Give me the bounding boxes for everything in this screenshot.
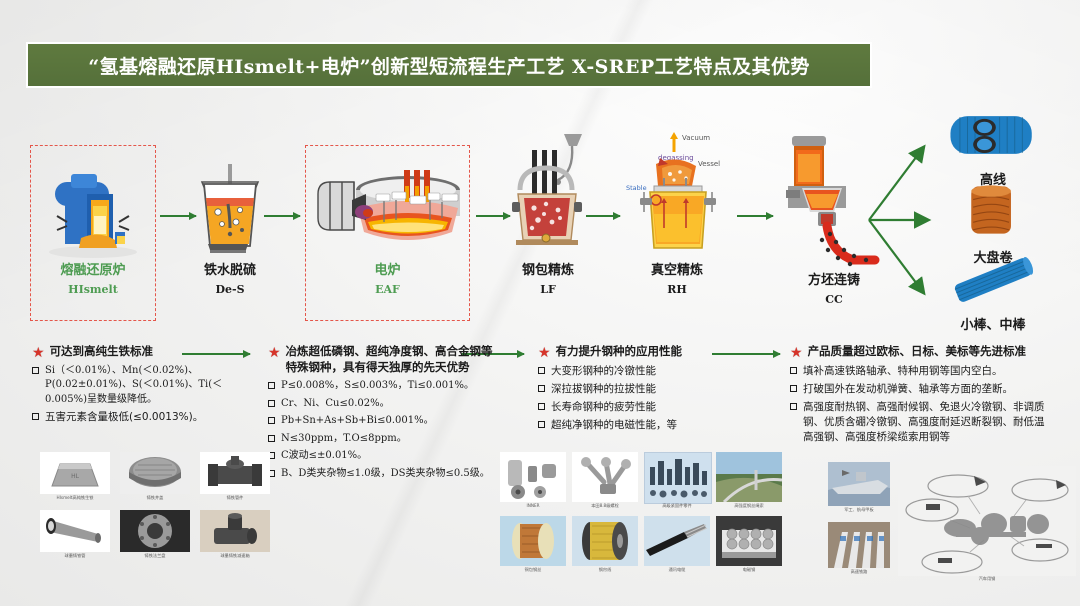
photo-communication-cable [644, 516, 710, 566]
bullet-text: P≤0.008%，S≤0.003%，Ti≤0.001%。 [281, 379, 474, 394]
bullet-square-icon [538, 385, 545, 392]
wire-rod-coil-icon [938, 110, 1048, 165]
stage-eaf: 电炉 EAF [310, 160, 465, 296]
bullet-square-icon [790, 385, 797, 392]
svg-text:HL: HL [71, 473, 80, 480]
page-title: “氢基熔融还原HIsmelt+电炉”创新型短流程生产工艺 X-SREP工艺特点及… [88, 52, 810, 79]
svg-text:Stable: Stable [626, 184, 647, 192]
stage-label-en: HIsmelt [34, 283, 152, 296]
section-title: 冶炼超低磷钢、超纯净度钢、高合金钢等特殊钢种，具有得天独厚的先天优势 [286, 344, 500, 375]
smelting-reduction-furnace-icon [41, 160, 145, 260]
section-bullet-list: Si（＜0.01%）、Mn(＜0.02%)、P(0.02±0.01%)、S(＜0… [32, 364, 242, 426]
photo-caption: 钢帘线 [572, 567, 638, 573]
list-item: Pb+Sn+As+Sb+Bi≤0.001%。 [268, 414, 500, 429]
bullet-text: 深拉拔钢种的拉拔性能 [551, 382, 656, 397]
bullet-text: Pb+Sn+As+Sb+Bi≤0.001%。 [281, 414, 434, 429]
list-item: 五害元素含量极低(≤0.0013%)。 [32, 410, 242, 425]
photo-caption: 本田8.8级螺栓 [572, 503, 638, 509]
bullet-square-icon [538, 403, 545, 410]
list-item: 高强度耐热钢、高强耐候钢、免退火冷镦钢、非调质钢、优质含硼冷镦钢、高强度耐延迟断… [790, 400, 1052, 446]
bullet-text: 打破国外在发动机弹簧、轴承等方面的垄断。 [803, 382, 1013, 397]
list-item: P≤0.008%，S≤0.003%，Ti≤0.001%。 [268, 379, 500, 394]
bullet-text: 长寿命钢种的疲劳性能 [551, 400, 656, 415]
list-item: 长寿命钢种的疲劳性能 [538, 400, 738, 415]
photo-cast-iron-flange [120, 510, 190, 552]
stage-label-en: EAF [310, 283, 465, 296]
photo-caption: HIsmelt高纯铁生铁 [40, 495, 110, 501]
stage-label-cn: 电炉 [310, 264, 465, 278]
stage-rh: Vacuum degassing Vessel Stable [622, 128, 732, 296]
gallery-left: HL HIsmelt高纯铁生铁 铸铁井盖 铸铁管件 [40, 452, 270, 586]
photo-high-strength-bolts [572, 452, 638, 502]
photo-caption: 铸铁法兰盘 [120, 553, 190, 559]
photo-caption: 高强度钢丝绳索 [716, 503, 782, 509]
bullet-text: C波动≤±0.01%。 [281, 449, 367, 464]
section-application-performance: ★ 有力提升钢种的应用性能 大变形钢种的冷镦性能 深拉拔钢种的拉拔性能 长寿命钢… [538, 344, 738, 436]
list-item: Cr、Ni、Cu≤0.02%。 [268, 397, 500, 412]
rh-vacuum-degasser-icon: Vacuum degassing Vessel Stable [624, 128, 730, 260]
bullet-square-icon [268, 382, 275, 389]
stage-label-cn: 铁水脱硫 [180, 264, 280, 278]
star-icon: ★ [538, 345, 551, 359]
list-item: 超纯净钢种的电磁性能，等 [538, 418, 738, 433]
bullet-text: 超纯净钢种的电磁性能，等 [551, 418, 677, 433]
product-wire-rod: 高线 [938, 110, 1048, 188]
bullet-text: 大变形钢种的冷镦性能 [551, 364, 656, 379]
bullet-square-icon [32, 413, 39, 420]
stage-lf: 钢包精炼 LF [500, 128, 596, 296]
photo-caption: 铸铁井盖 [120, 495, 190, 501]
stage-label-en: De-S [180, 283, 280, 296]
photo-cast-iron-valve [200, 452, 270, 494]
section-title: 有力提升钢种的应用性能 [556, 344, 683, 360]
photo-aircraft-carrier [828, 462, 890, 506]
flow-arrow-5 [737, 215, 773, 217]
svg-text:Vessel: Vessel [698, 160, 720, 168]
photo-electromagnetic-steel [716, 516, 782, 566]
photo-precision-parts [500, 452, 566, 502]
bullet-square-icon [790, 403, 797, 410]
small-medium-bar-bundle-icon [938, 255, 1048, 310]
bullet-text: 高强度耐热钢、高强耐候钢、免退火冷镦钢、非调质钢、优质含硼冷镦钢、高强度耐延迟断… [803, 400, 1052, 446]
section-special-steel: ★ 冶炼超低磷钢、超纯净度钢、高合金钢等特殊钢种，具有得天独厚的先天优势 P≤0… [268, 344, 500, 484]
star-icon: ★ [32, 345, 45, 359]
photo-caption: 通讯电缆 [644, 567, 710, 573]
photo-caption: 军工、航母甲板 [828, 507, 890, 513]
photo-copper-clad-wire [500, 516, 566, 566]
stage-desulfurization: 铁水脱硫 De-S [180, 160, 280, 296]
photo-pig-iron-ingot: HL [40, 452, 110, 494]
bullet-text: Cr、Ni、Cu≤0.02%。 [281, 397, 390, 412]
photo-caption: 铸铁管件 [200, 495, 270, 501]
list-item: C波动≤±0.01%。 [268, 449, 500, 464]
photo-ductile-iron-pipe [40, 510, 110, 552]
gallery-right: 军工、航母甲板 高速铁路 [828, 462, 1080, 590]
section-title: 可达到高纯生铁标准 [50, 344, 154, 360]
photo-bridge-cable [716, 452, 782, 502]
large-coil-icon [938, 182, 1048, 243]
bullet-square-icon [790, 367, 797, 374]
stage-label-cn: 钢包精炼 [500, 264, 596, 278]
bullet-square-icon [538, 421, 545, 428]
product-label: 小棒、中棒 [938, 314, 1048, 333]
section-bullet-list: 填补高速铁路轴承、特种用钢等国内空白。 打破国外在发动机弹簧、轴承等方面的垄断。… [790, 364, 1052, 446]
photo-ductile-iron-gearbox [200, 510, 270, 552]
section-bullet-list: P≤0.008%，S≤0.003%，Ti≤0.001%。 Cr、Ni、Cu≤0.… [268, 379, 500, 481]
stage-label-cn: 真空精炼 [622, 264, 732, 278]
bullet-square-icon [268, 435, 275, 442]
section-pig-iron-standard: ★ 可达到高纯生铁标准 Si（＜0.01%）、Mn(＜0.02%)、P(0.02… [32, 344, 242, 428]
bullet-text: N≤30ppm，T.O≤8ppm。 [281, 432, 407, 447]
slide-title-bar: “氢基熔融还原HIsmelt+电炉”创新型短流程生产工艺 X-SREP工艺特点及… [26, 42, 872, 88]
product-large-coil: 大盘卷 [938, 182, 1048, 266]
photo-caption: INNER [500, 503, 566, 508]
photo-caption: 球墨铸铁管 [40, 553, 110, 559]
photo-caption: 球墨铸铁减速箱 [200, 553, 270, 559]
photo-high-speed-rail [828, 522, 890, 568]
bullet-square-icon [268, 400, 275, 407]
photo-caption: 高级紧固件零件 [644, 503, 710, 509]
photo-caption: 高速铁路 [828, 569, 890, 575]
stage-hismelt: 熔融还原炉 HIsmelt [34, 160, 152, 296]
photo-caption: 汽车用钢 [898, 576, 1076, 582]
svg-text:Vacuum: Vacuum [682, 134, 710, 142]
slide-canvas: “氢基熔融还原HIsmelt+电炉”创新型短流程生产工艺 X-SREP工艺特点及… [0, 0, 1080, 606]
list-item: 深拉拔钢种的拉拔性能 [538, 382, 738, 397]
stage-label-cn: 熔融还原炉 [34, 264, 152, 278]
photo-steel-cord [572, 516, 638, 566]
photo-caption: 电磁钢 [716, 567, 782, 573]
photo-fastener-assortment [644, 452, 712, 504]
stage-label-en: LF [500, 283, 596, 296]
product-bars: 小棒、中棒 [938, 255, 1048, 333]
list-item: N≤30ppm，T.O≤8ppm。 [268, 432, 500, 447]
product-fanout-arrows [865, 128, 945, 318]
list-item: B、D类夹杂物≤1.0级，DS类夹杂物≤0.5级。 [268, 467, 500, 482]
gallery-mid: INNER 本田8.8级螺栓 [500, 452, 782, 582]
bullet-square-icon [32, 367, 39, 374]
list-item: 填补高速铁路轴承、特种用钢等国内空白。 [790, 364, 1052, 379]
bullet-text: Si（＜0.01%）、Mn(＜0.02%)、P(0.02±0.01%)、S(＜0… [45, 364, 242, 408]
list-item: 大变形钢种的冷镦性能 [538, 364, 738, 379]
stage-label-en: RH [622, 283, 732, 296]
bullet-text: 填补高速铁路轴承、特种用钢等国内空白。 [803, 364, 1003, 379]
electric-arc-furnace-icon [312, 160, 464, 260]
section-title: 产品质量超过欧标、日标、美标等先进标准 [808, 344, 1027, 360]
hot-metal-desulfurization-ladle-icon [184, 160, 276, 260]
bullet-square-icon [268, 417, 275, 424]
bullet-text: B、D类夹杂物≤1.0级，DS类夹杂物≤0.5级。 [281, 467, 490, 482]
photo-caption: 铜包钢丝 [500, 567, 566, 573]
list-item: Si（＜0.01%）、Mn(＜0.02%)、P(0.02±0.01%)、S(＜0… [32, 364, 242, 408]
photo-automotive-chassis [898, 466, 1076, 576]
star-icon: ★ [268, 345, 281, 359]
bullet-square-icon [538, 367, 545, 374]
list-item: 打破国外在发动机弹簧、轴承等方面的垄断。 [790, 382, 1052, 397]
bullet-text: 五害元素含量极低(≤0.0013%)。 [45, 410, 203, 425]
section-product-quality: ★ 产品质量超过欧标、日标、美标等先进标准 填补高速铁路轴承、特种用钢等国内空白… [790, 344, 1052, 449]
star-icon: ★ [790, 345, 803, 359]
ladle-furnace-icon [502, 128, 594, 260]
section-bullet-list: 大变形钢种的冷镦性能 深拉拔钢种的拉拔性能 长寿命钢种的疲劳性能 超纯净钢种的电… [538, 364, 738, 434]
photo-manhole-cover [120, 452, 190, 494]
